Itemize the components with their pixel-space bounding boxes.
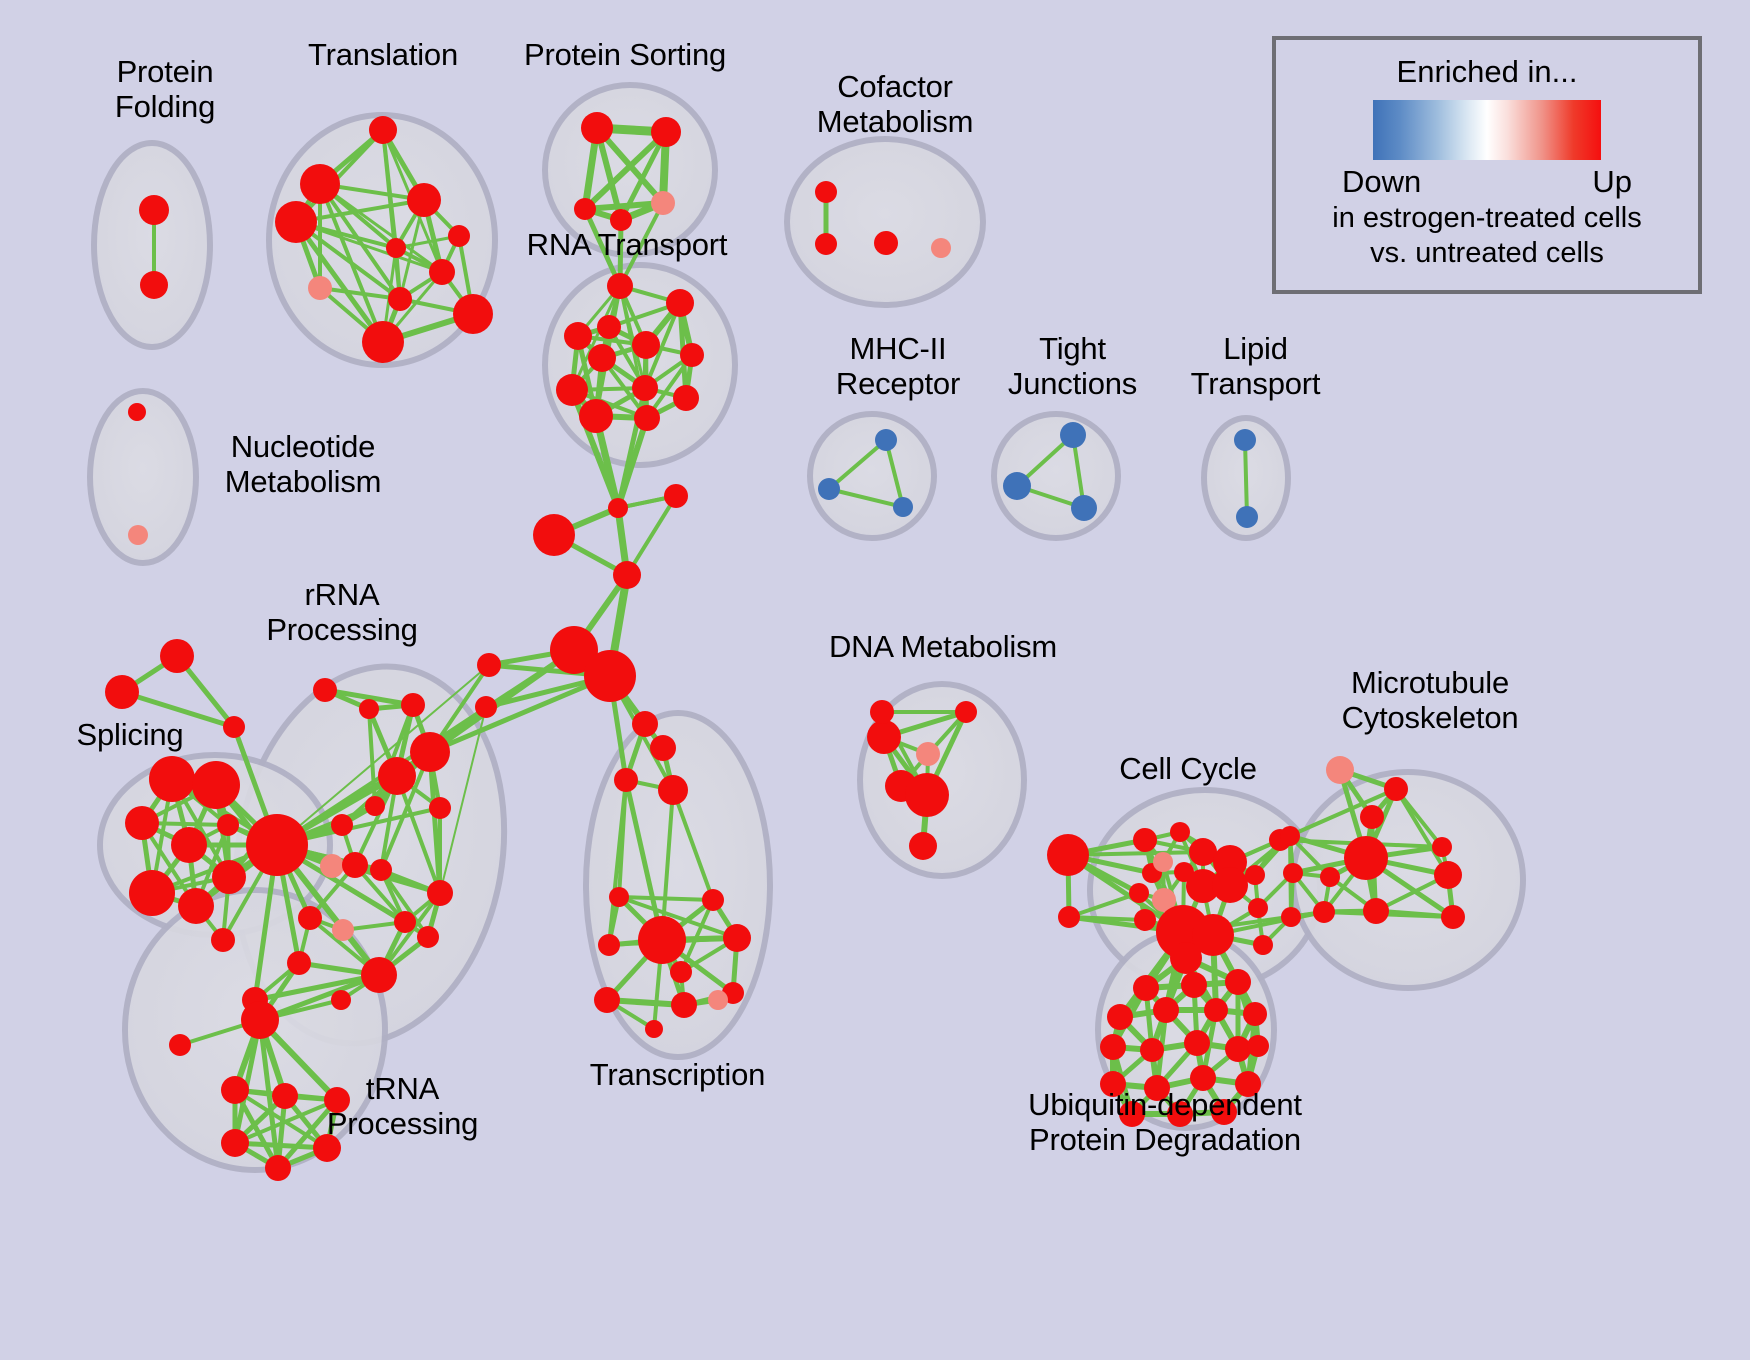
network-node[interactable] (614, 768, 638, 792)
cluster-label-ubiquitin-protein-degradation: Ubiquitin-dependent Protein Degradation (990, 1088, 1340, 1157)
network-node[interactable] (632, 375, 658, 401)
network-node[interactable] (702, 889, 724, 911)
color-gradient-bar (1373, 100, 1601, 160)
network-node[interactable] (362, 321, 404, 363)
network-node[interactable] (1253, 935, 1273, 955)
network-node[interactable] (388, 287, 412, 311)
network-node[interactable] (581, 112, 613, 144)
network-node[interactable] (1184, 1030, 1210, 1056)
network-node[interactable] (1247, 1035, 1269, 1057)
network-node[interactable] (632, 711, 658, 737)
network-node[interactable] (533, 514, 575, 556)
network-node[interactable] (1003, 472, 1031, 500)
network-node[interactable] (1320, 867, 1340, 887)
network-node[interactable] (140, 271, 168, 299)
network-node[interactable] (598, 934, 620, 956)
cluster-label-transcription: Transcription (575, 1058, 780, 1093)
network-node[interactable] (874, 231, 898, 255)
legend-caption-line1: in estrogen-treated cells (1332, 202, 1642, 235)
network-node[interactable] (342, 852, 368, 878)
network-node[interactable] (607, 273, 633, 299)
network-node[interactable] (645, 1020, 663, 1038)
network-node[interactable] (128, 525, 148, 545)
network-node[interactable] (370, 859, 392, 881)
network-node[interactable] (320, 854, 344, 878)
network-edge (1245, 440, 1247, 517)
network-node[interactable] (1344, 836, 1388, 880)
network-node[interactable] (680, 343, 704, 367)
network-node[interactable] (1153, 852, 1173, 872)
network-node[interactable] (1181, 972, 1207, 998)
cluster-ellipse-mhc-ii-receptor (810, 414, 934, 538)
network-node[interactable] (331, 990, 351, 1010)
network-node[interactable] (192, 761, 240, 809)
network-node[interactable] (149, 756, 195, 802)
network-node[interactable] (369, 116, 397, 144)
network-node[interactable] (1058, 906, 1080, 928)
network-node[interactable] (1441, 905, 1465, 929)
network-node[interactable] (1384, 777, 1408, 801)
network-node[interactable] (651, 191, 675, 215)
network-node[interactable] (223, 716, 245, 738)
legend-low-label: Down (1342, 164, 1421, 200)
network-node[interactable] (1212, 867, 1248, 903)
network-node[interactable] (160, 639, 194, 673)
network-node[interactable] (1071, 495, 1097, 521)
network-node[interactable] (129, 870, 175, 916)
network-node[interactable] (1189, 838, 1217, 866)
network-node[interactable] (818, 478, 840, 500)
cluster-label-trna-processing: tRNA Processing (310, 1072, 495, 1141)
network-node[interactable] (1107, 1004, 1133, 1030)
cluster-ellipse-cofactor-metabolism (787, 139, 983, 305)
network-node[interactable] (609, 887, 629, 907)
cluster-label-dna-metabolism: DNA Metabolism (818, 630, 1068, 665)
network-node[interactable] (664, 484, 688, 508)
network-node[interactable] (634, 405, 660, 431)
network-node[interactable] (475, 696, 497, 718)
network-node[interactable] (241, 1001, 279, 1039)
network-node[interactable] (955, 701, 977, 723)
network-node[interactable] (909, 832, 937, 860)
network-node[interactable] (670, 961, 692, 983)
network-node[interactable] (608, 498, 628, 518)
network-node[interactable] (125, 806, 159, 840)
network-node[interactable] (453, 294, 493, 334)
network-node[interactable] (394, 911, 416, 933)
network-figure: Protein FoldingTranslationProtein Sortin… (0, 0, 1750, 1360)
network-node[interactable] (1133, 828, 1157, 852)
network-node[interactable] (632, 331, 660, 359)
network-node[interactable] (650, 735, 676, 761)
network-node[interactable] (594, 987, 620, 1013)
network-node[interactable] (139, 195, 169, 225)
network-node[interactable] (1140, 1038, 1164, 1062)
network-node[interactable] (221, 1076, 249, 1104)
legend-caption-line2: vs. untreated cells (1370, 237, 1604, 270)
network-node[interactable] (1129, 883, 1149, 903)
network-node[interactable] (1434, 861, 1462, 889)
network-node[interactable] (429, 797, 451, 819)
network-node[interactable] (417, 926, 439, 948)
network-node[interactable] (666, 289, 694, 317)
network-node[interactable] (1280, 826, 1300, 846)
network-node[interactable] (638, 916, 686, 964)
network-node[interactable] (1245, 865, 1265, 885)
network-node[interactable] (893, 497, 913, 517)
network-node[interactable] (212, 860, 246, 894)
network-node[interactable] (579, 399, 613, 433)
network-node[interactable] (1432, 837, 1452, 857)
network-node[interactable] (867, 720, 901, 754)
network-node[interactable] (429, 259, 455, 285)
network-node[interactable] (275, 201, 317, 243)
network-node[interactable] (1234, 429, 1256, 451)
cluster-label-nucleotide-metabolism: Nucleotide Metabolism (198, 430, 408, 499)
network-node[interactable] (870, 700, 894, 724)
network-node[interactable] (221, 1129, 249, 1157)
cluster-label-lipid-transport: Lipid Transport (1168, 332, 1343, 401)
network-node[interactable] (671, 992, 697, 1018)
network-node[interactable] (658, 775, 688, 805)
network-node[interactable] (365, 796, 385, 816)
network-node[interactable] (931, 238, 951, 258)
network-node[interactable] (386, 238, 406, 258)
network-node[interactable] (448, 225, 470, 247)
legend-title: Enriched in... (1397, 54, 1578, 90)
cluster-label-protein-sorting: Protein Sorting (505, 38, 745, 73)
network-node[interactable] (300, 164, 340, 204)
network-node[interactable] (1326, 756, 1354, 784)
network-node[interactable] (574, 198, 596, 220)
network-node[interactable] (1060, 422, 1086, 448)
network-node[interactable] (1153, 997, 1179, 1023)
network-node[interactable] (171, 827, 207, 863)
network-node[interactable] (723, 924, 751, 952)
network-node[interactable] (708, 990, 728, 1010)
network-node[interactable] (815, 233, 837, 255)
network-node[interactable] (265, 1155, 291, 1181)
network-node[interactable] (298, 906, 322, 930)
network-node[interactable] (401, 693, 425, 717)
cluster-label-microtubule-cytoskeleton: Microtubule Cytoskeleton (1310, 666, 1550, 735)
network-node[interactable] (410, 732, 450, 772)
network-node[interactable] (477, 653, 501, 677)
network-node[interactable] (378, 757, 416, 795)
cluster-label-cofactor-metabolism: Cofactor Metabolism (795, 70, 995, 139)
network-node[interactable] (1204, 998, 1228, 1022)
cluster-label-cell-cycle: Cell Cycle (1108, 752, 1268, 787)
network-node[interactable] (584, 650, 636, 702)
network-node[interactable] (331, 814, 353, 836)
network-node[interactable] (1363, 898, 1389, 924)
network-node[interactable] (407, 183, 441, 217)
network-node[interactable] (815, 181, 837, 203)
network-node[interactable] (1170, 942, 1202, 974)
network-node[interactable] (211, 928, 235, 952)
network-node[interactable] (1243, 1002, 1267, 1026)
network-node[interactable] (128, 403, 146, 421)
network-node[interactable] (313, 678, 337, 702)
legend-endpoints: Down Up (1342, 164, 1632, 200)
network-node[interactable] (905, 773, 949, 817)
network-node[interactable] (217, 814, 239, 836)
network-node[interactable] (359, 699, 379, 719)
network-node[interactable] (588, 344, 616, 372)
network-node[interactable] (673, 385, 699, 411)
network-node[interactable] (1225, 1036, 1251, 1062)
network-node[interactable] (1100, 1034, 1126, 1060)
network-node[interactable] (287, 951, 311, 975)
cluster-label-splicing: Splicing (60, 718, 200, 753)
network-node[interactable] (1281, 907, 1301, 927)
network-node[interactable] (1225, 969, 1251, 995)
network-node[interactable] (427, 880, 453, 906)
network-node[interactable] (916, 742, 940, 766)
network-node[interactable] (564, 322, 592, 350)
cluster-label-translation: Translation (288, 38, 478, 73)
network-node[interactable] (1134, 909, 1156, 931)
network-node[interactable] (272, 1083, 298, 1109)
network-node[interactable] (875, 429, 897, 451)
cluster-label-rna-transport: RNA Transport (512, 228, 742, 263)
network-node[interactable] (361, 957, 397, 993)
network-node[interactable] (178, 888, 214, 924)
network-node[interactable] (1313, 901, 1335, 923)
legend-high-label: Up (1592, 164, 1632, 200)
network-node[interactable] (1360, 805, 1384, 829)
network-node[interactable] (613, 561, 641, 589)
network-node[interactable] (1248, 898, 1268, 918)
cluster-label-tight-junctions: Tight Junctions (985, 332, 1160, 401)
network-node[interactable] (246, 814, 308, 876)
network-node[interactable] (332, 919, 354, 941)
cluster-label-rrna-processing: rRNA Processing (252, 578, 432, 647)
network-node[interactable] (651, 117, 681, 147)
network-node[interactable] (556, 374, 588, 406)
network-node[interactable] (1170, 822, 1190, 842)
cluster-label-mhc-ii-receptor: MHC-II Receptor (808, 332, 988, 401)
cluster-label-protein-folding: Protein Folding (80, 55, 250, 124)
network-node[interactable] (308, 276, 332, 300)
legend-panel: Enriched in... Down Up in estrogen-treat… (1272, 36, 1702, 294)
network-node[interactable] (105, 675, 139, 709)
network-node[interactable] (1236, 506, 1258, 528)
network-node[interactable] (1047, 834, 1089, 876)
network-node[interactable] (169, 1034, 191, 1056)
network-node[interactable] (597, 315, 621, 339)
network-node[interactable] (1133, 975, 1159, 1001)
network-node[interactable] (1283, 863, 1303, 883)
